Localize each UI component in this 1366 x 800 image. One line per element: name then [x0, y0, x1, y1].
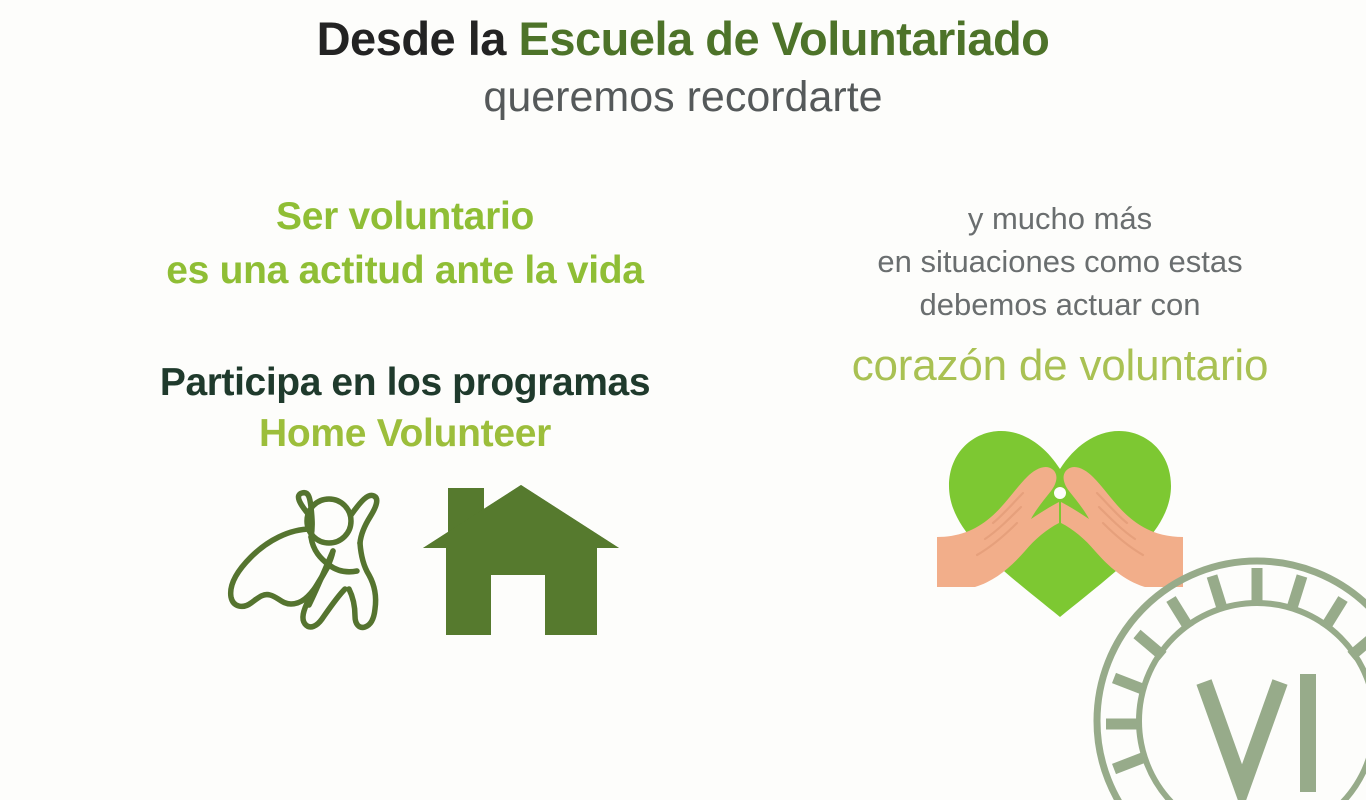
- programs-name: Home Volunteer: [60, 410, 750, 459]
- headline-green-text: Escuela de Voluntariado: [519, 12, 1050, 65]
- hands-forming-heart-icon: [935, 419, 1185, 629]
- right-column: y mucho más en situaciones como estas de…: [760, 198, 1360, 629]
- headline-block: Desde la Escuela de Voluntariado queremo…: [0, 14, 1366, 120]
- slogan-block: Ser voluntario es una actitud ante la vi…: [60, 190, 750, 298]
- poster-canvas: Desde la Escuela de Voluntariado queremo…: [0, 0, 1366, 800]
- slogan-line-2: es una actitud ante la vida: [60, 244, 750, 298]
- left-icon-row: [60, 480, 750, 645]
- programs-block: Participa en los programas Home Voluntee…: [60, 360, 750, 459]
- right-message-line-1: y mucho más: [760, 198, 1360, 241]
- right-message-line-2: en situaciones como estas: [760, 241, 1360, 284]
- headline-subtitle: queremos recordarte: [0, 75, 1366, 120]
- slogan-line-1: Ser voluntario: [60, 190, 750, 244]
- left-column: Ser voluntario es una actitud ante la vi…: [60, 190, 750, 645]
- right-message-block: y mucho más en situaciones como estas de…: [760, 198, 1360, 326]
- headline-dark-text: Desde la: [317, 12, 506, 65]
- superhero-volunteer-icon: [225, 485, 395, 645]
- house-icon: [421, 480, 621, 645]
- programs-title: Participa en los programas: [60, 360, 750, 406]
- right-message-line-3: debemos actuar con: [760, 284, 1360, 327]
- headline-line-1: Desde la Escuela de Voluntariado: [0, 14, 1366, 63]
- right-icon-row: [760, 419, 1360, 629]
- right-highlight-text: corazón de voluntario: [760, 340, 1360, 393]
